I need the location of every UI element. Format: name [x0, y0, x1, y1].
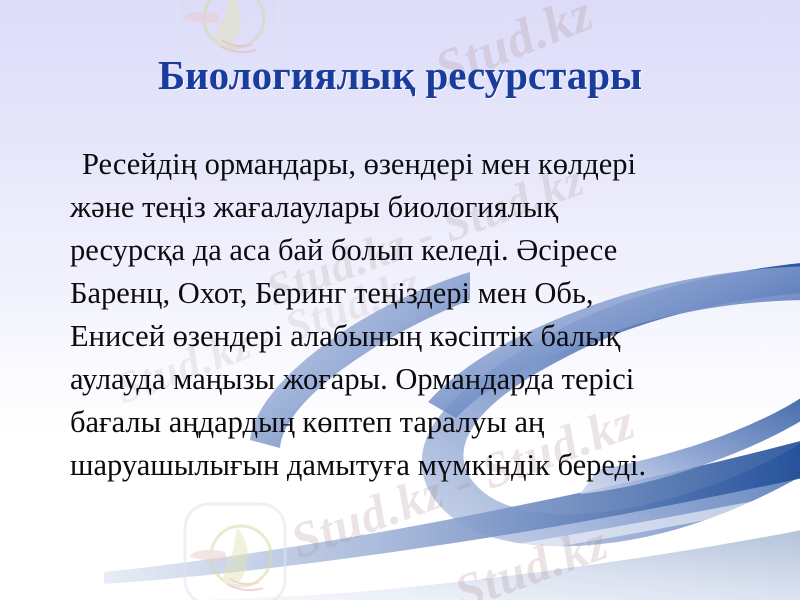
stud-kz-bird-logo-icon-secondary	[175, 494, 295, 600]
body-line: ресурсқа да аса бай болып келеді. Әсірес…	[70, 229, 742, 272]
body-line: аулауда маңызы жоғары. Ормандарда терісі	[70, 358, 742, 401]
body-line: Ресейдің ормандары, өзендері мен көлдері	[70, 143, 742, 186]
body-line: бағалы аңдардың көптеп таралуы аң	[70, 401, 742, 444]
body-line: шаруашылығын дамытуға мүмкіндік береді.	[70, 444, 742, 487]
slide-body: Ресейдің ормандары, өзендері мен көлдері…	[70, 143, 742, 487]
slide-canvas: Stud.kz Stud.kz - Stud.kz Stud.kz - Stud…	[0, 0, 800, 600]
slide-title: Биологиялық ресурстары	[0, 52, 800, 98]
body-line: Енисей өзендері алабының кәсіптік балық	[70, 315, 742, 358]
body-line: және теңіз жағалаулары биологиялық	[70, 186, 742, 229]
body-line: Баренц, Охот, Беринг теңіздері мен Обь,	[70, 272, 742, 315]
